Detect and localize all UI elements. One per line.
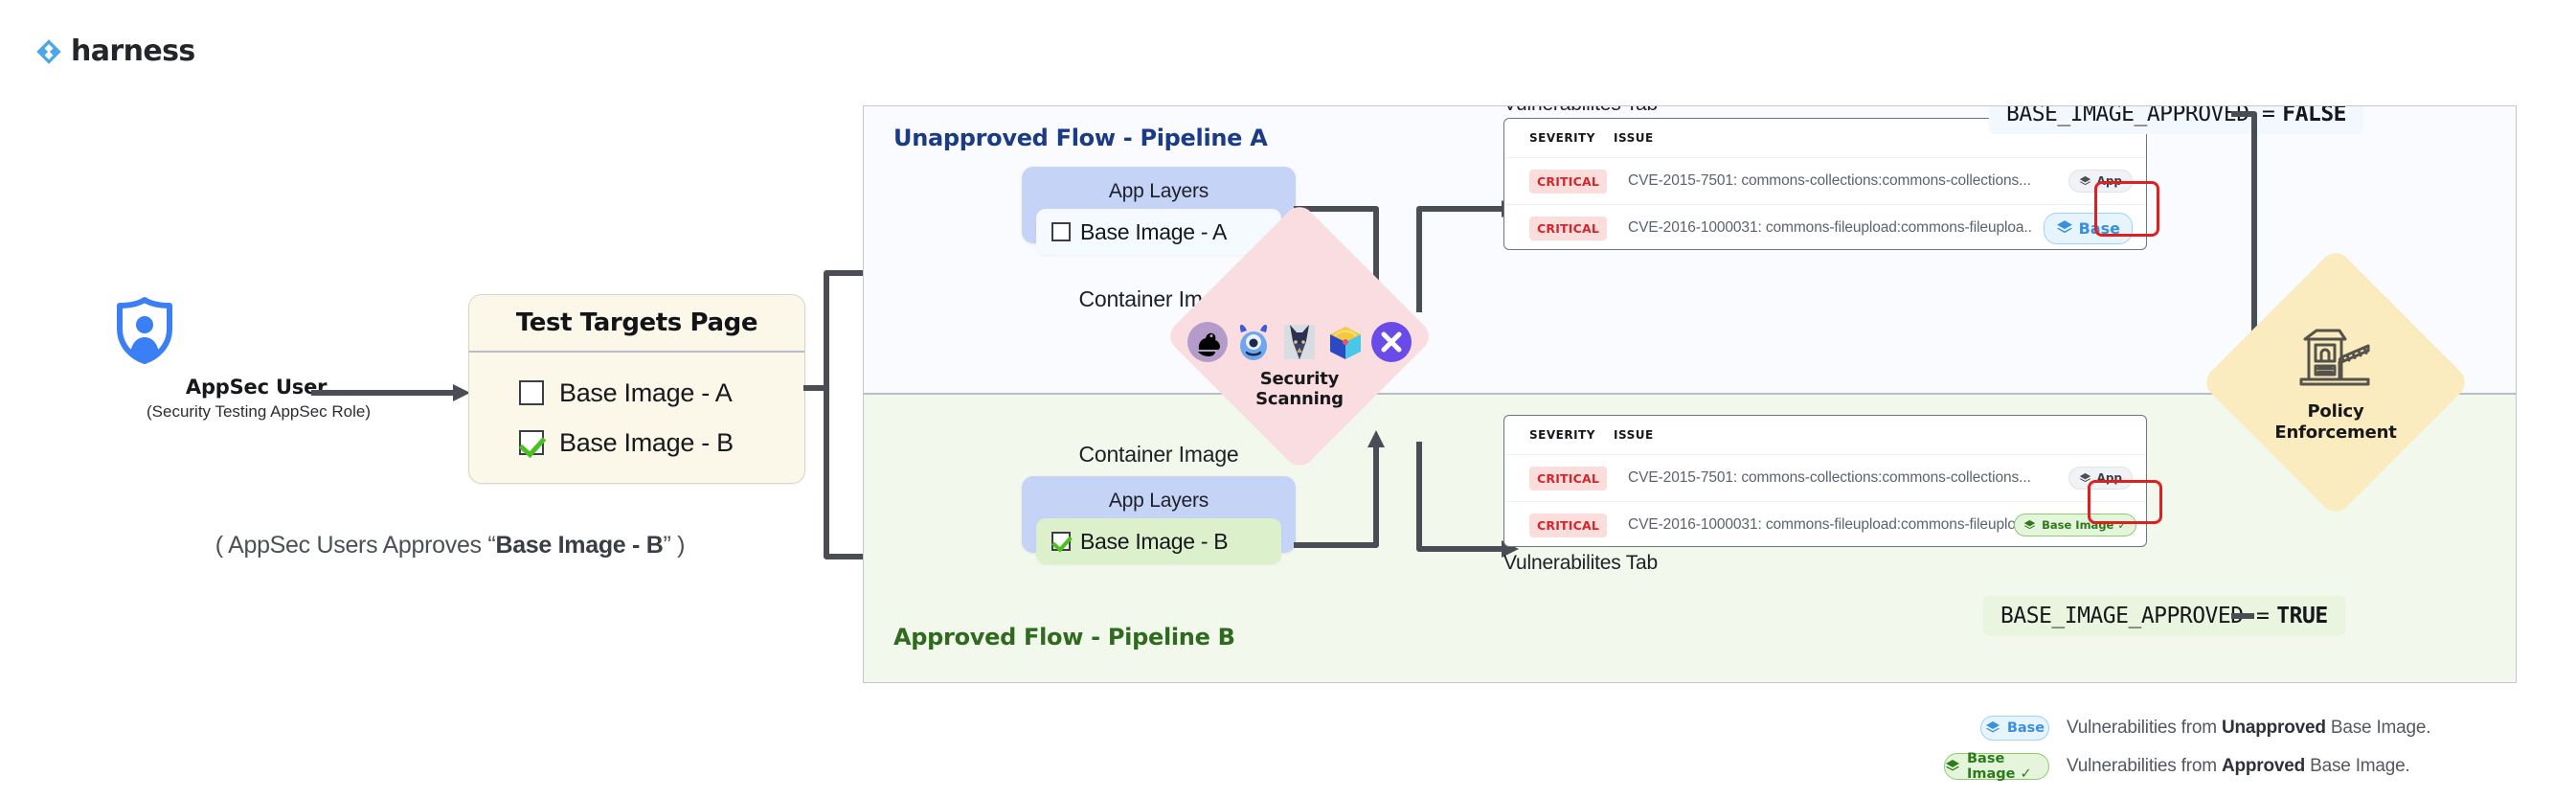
table-row[interactable]: CRITICAL CVE-2016-1000031: commons-fileu…: [1504, 501, 2146, 547]
table-row[interactable]: CRITICAL CVE-2015-7501: commons-collecti…: [1504, 157, 2146, 204]
shield-user-icon: [115, 297, 402, 364]
app-layers-label: App Layers: [1022, 490, 1296, 513]
table-header-row: SEVERITY ISSUE: [1504, 416, 2146, 454]
target-row-base-image-a[interactable]: Base Image - A: [519, 368, 804, 418]
legend-row-unapproved: Base Vulnerabilities from Unapproved Bas…: [1915, 709, 2430, 747]
flow-b-vuln-tab-label: Vulnerabilites Tab: [1503, 552, 1658, 575]
table-row[interactable]: CRITICAL CVE-2015-7501: commons-collecti…: [1504, 454, 2146, 501]
status-badge: CRITICAL: [1529, 467, 1607, 491]
flow-b-vuln-table[interactable]: SEVERITY ISSUE CRITICAL CVE-2015-7501: c…: [1503, 415, 2147, 547]
policy-enforcement-label: Policy Enforcement: [2240, 401, 2431, 443]
flow-b-container-image-label: Container Image: [1022, 442, 1296, 468]
legend-row-approved: Base Image ✓ Vulnerabilities from Approv…: [1915, 747, 2430, 786]
policy-enforcement-node: Policy Enforcement: [2240, 286, 2431, 478]
pipelines-panel: Unapproved Flow - Pipeline A Approved Fl…: [863, 105, 2517, 683]
layers-stack-icon: [1985, 720, 2000, 736]
legend-text: Vulnerabilities from Unapproved Base Ima…: [2067, 718, 2430, 739]
blue-monster-scanner-icon: [1232, 321, 1275, 363]
env-var-name: BASE_IMAGE_APPROVED =: [2000, 604, 2269, 628]
status-badge: CRITICAL: [1529, 217, 1607, 240]
flow-b-title: Approved Flow - Pipeline B: [893, 624, 1235, 651]
app-layers-label: App Layers: [1022, 180, 1296, 203]
checkbox-unchecked-icon[interactable]: [1051, 222, 1071, 241]
layers-stack-icon: [2023, 519, 2036, 532]
approval-caption-prefix: ( AppSec Users Approves “: [215, 532, 496, 559]
checkbox-checked-icon[interactable]: [1051, 532, 1071, 551]
approval-caption-suffix: ” ): [663, 532, 685, 559]
table-row[interactable]: CRITICAL CVE-2016-1000031: commons-fileu…: [1504, 204, 2146, 250]
harness-logo: harness: [34, 34, 195, 68]
checkbox-checked-icon[interactable]: [519, 430, 544, 455]
base-image-label: Base Image - B: [1080, 529, 1228, 555]
security-scanning-label: Security Scanning: [1204, 369, 1395, 409]
column-issue: ISSUE: [1614, 131, 1654, 145]
layers-stack-icon: [2056, 219, 2073, 237]
arrow-user-to-targets: [311, 383, 474, 402]
issue-text: CVE-2015-7501: commons-collections:commo…: [1628, 469, 2031, 487]
layers-stack-icon: [2079, 175, 2091, 188]
issue-text: CVE-2016-1000031: commons-fileupload:com…: [1628, 219, 2032, 237]
legend-text: Vulnerabilities from Approved Base Image…: [2067, 756, 2410, 777]
status-badge: CRITICAL: [1529, 170, 1607, 194]
layers-stack-icon: [1945, 759, 1960, 774]
doberman-scanner-icon: [1278, 321, 1321, 363]
target-label: Base Image - A: [559, 378, 732, 408]
security-scanning-node: Security Scanning: [1204, 240, 1395, 432]
issue-text: CVE-2015-7501: commons-collections:commo…: [1628, 172, 2031, 190]
test-targets-title: Test Targets Page: [469, 295, 804, 353]
flow-b-app-layers-box: App Layers Base Image - B: [1022, 476, 1296, 553]
chip-label: Base Image ✓: [1967, 751, 2048, 782]
appsec-user-subtitle: (Security Testing AppSec Role): [115, 402, 402, 422]
flow-a-vuln-tab-label: Vulnerabilites Tab: [1503, 105, 1658, 116]
flow-a-app-layers-box: App Layers Base Image - A: [1022, 167, 1296, 243]
cube-scanner-icon: [1324, 321, 1367, 363]
legend-chip-base: Base: [1980, 716, 2049, 741]
duck-scanner-icon: [1186, 321, 1229, 363]
target-row-base-image-b[interactable]: Base Image - B: [519, 418, 804, 468]
purple-x-scanner-icon: [1370, 321, 1412, 363]
column-severity: SEVERITY: [1529, 131, 1614, 145]
checkbox-unchecked-icon[interactable]: [519, 380, 544, 405]
security-scanning-tool-icons: [1171, 321, 1428, 363]
harness-diamond-logo-icon: [34, 37, 63, 66]
status-badge: CRITICAL: [1529, 514, 1607, 537]
harness-wordmark: harness: [71, 34, 195, 68]
approval-caption: ( AppSec Users Approves “Base Image - B”…: [115, 532, 785, 559]
target-label: Base Image - B: [559, 428, 734, 458]
checkpoint-gate-icon: [2297, 327, 2374, 390]
column-severity: SEVERITY: [1529, 428, 1614, 442]
flow-b-base-image-card[interactable]: Base Image - B: [1036, 518, 1281, 564]
legend-chip-base-image-approved: Base Image ✓: [1944, 753, 2049, 780]
flow-a-vuln-table[interactable]: SEVERITY ISSUE CRITICAL CVE-2015-7501: c…: [1503, 118, 2147, 250]
chip-label: Base: [2007, 720, 2045, 736]
flow-b-highlight-box: [2088, 480, 2162, 524]
flow-a-highlight-box: [2094, 181, 2159, 237]
legend: Base Vulnerabilities from Unapproved Bas…: [1915, 709, 2430, 786]
issue-text: CVE-2016-1000031: commons-fileupload:com…: [1628, 516, 2028, 534]
test-targets-card[interactable]: Test Targets Page Base Image - A Base Im…: [468, 294, 805, 484]
flow-a-title: Unapproved Flow - Pipeline A: [893, 125, 1267, 151]
column-issue: ISSUE: [1614, 428, 1654, 442]
diagram-canvas: harness AppSec User. (Security Testing A…: [0, 0, 2576, 799]
approval-caption-strong: Base Image - B: [495, 532, 663, 559]
appsec-user-node: AppSec User. (Security Testing AppSec Ro…: [115, 297, 402, 422]
